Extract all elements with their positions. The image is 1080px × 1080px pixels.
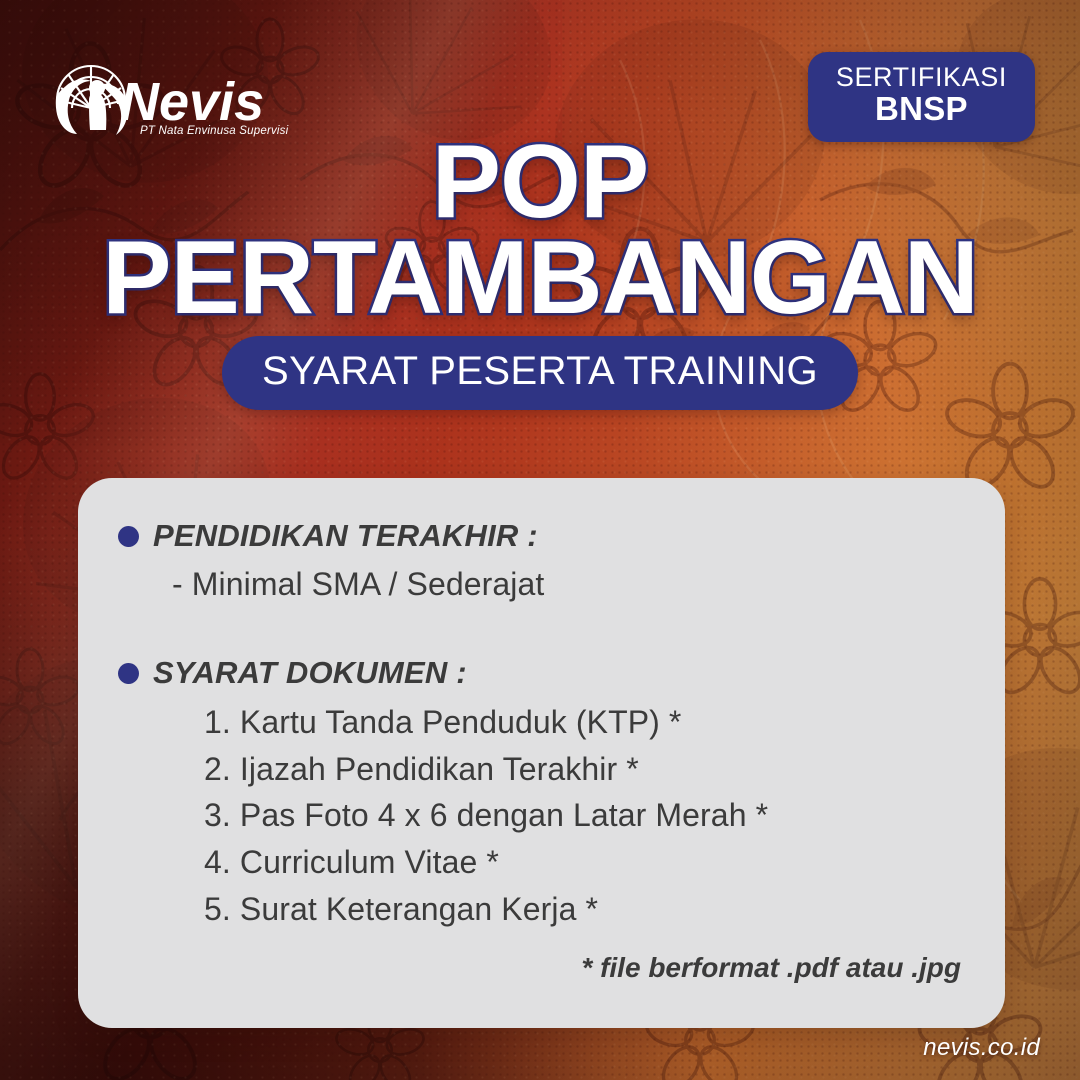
logo-wordmark: Nevis — [120, 72, 264, 132]
section-spacer — [118, 603, 961, 655]
nevis-globe-figure-logo: Nevis PT Nata Envinusa Supervisi — [44, 38, 294, 138]
title-line-pertambangan: PERTAMBANGAN — [0, 229, 1080, 329]
section-dokumen: SYARAT DOKUMEN : 1. Kartu Tanda Penduduk… — [118, 655, 961, 933]
requirements-card: PENDIDIKAN TERAKHIR : - Minimal SMA / Se… — [78, 478, 1005, 1028]
navy-dot-icon — [118, 663, 139, 684]
section-dokumen-heading-text: SYARAT DOKUMEN : — [153, 655, 467, 691]
badge-line-bnsp: BNSP — [836, 91, 1007, 127]
subtitle-pill: SYARAT PESERTA TRAINING — [222, 336, 858, 410]
list-item: 2. Ijazah Pendidikan Terakhir * — [204, 746, 961, 793]
list-item: 3. Pas Foto 4 x 6 dengan Latar Merah * — [204, 792, 961, 839]
poster-canvas: Nevis PT Nata Envinusa Supervisi SERTIFI… — [0, 0, 1080, 1080]
list-item: 5. Surat Keterangan Kerja * — [204, 886, 961, 933]
section-pendidikan: PENDIDIKAN TERAKHIR : - Minimal SMA / Se… — [118, 518, 961, 603]
section-pendidikan-heading-text: PENDIDIKAN TERAKHIR : — [153, 518, 538, 554]
title-line-pop: POP — [0, 133, 1080, 233]
file-format-footnote: * file berformat .pdf atau .jpg — [581, 952, 961, 984]
page-title: POP PERTAMBANGAN — [0, 133, 1080, 329]
website-url: nevis.co.id — [923, 1034, 1040, 1062]
certification-badge: SERTIFIKASI BNSP — [808, 52, 1035, 142]
brand-logo: Nevis PT Nata Envinusa Supervisi — [44, 38, 294, 138]
section-dokumen-heading: SYARAT DOKUMEN : — [118, 655, 961, 691]
navy-dot-icon — [118, 526, 139, 547]
section-pendidikan-heading: PENDIDIKAN TERAKHIR : — [118, 518, 961, 554]
document-list: 1. Kartu Tanda Penduduk (KTP) * 2. Ijaza… — [164, 699, 961, 933]
pendidikan-line-1: - Minimal SMA / Sederajat — [172, 566, 961, 603]
badge-line-sertifikasi: SERTIFIKASI — [836, 63, 1007, 91]
list-item: 1. Kartu Tanda Penduduk (KTP) * — [204, 699, 961, 746]
list-item: 4. Curriculum Vitae * — [204, 839, 961, 886]
